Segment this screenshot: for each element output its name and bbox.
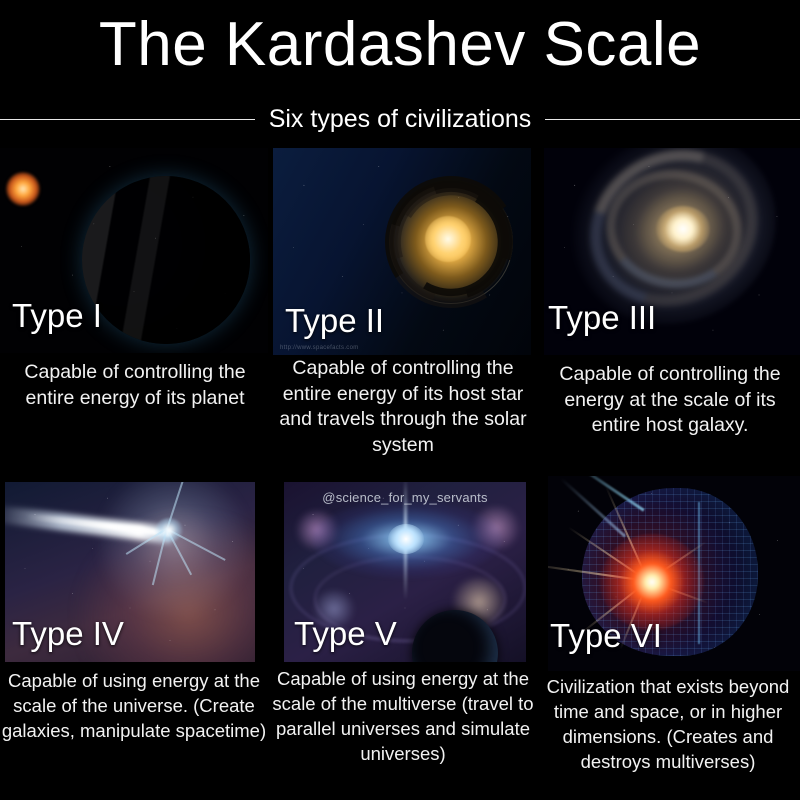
civilization-grid: Type I Capable of controlling the entire…: [0, 148, 800, 800]
rule-left: [0, 119, 255, 120]
page-subtitle: Six types of civilizations: [255, 105, 546, 133]
type-label-3: Type III: [548, 300, 656, 336]
card-description-2: Capable of controlling the entire energy…: [272, 356, 534, 458]
type-label-4: Type IV: [12, 616, 124, 652]
subtitle-row: Six types of civilizations: [0, 102, 800, 136]
account-watermark: @science_for_my_servants: [284, 490, 526, 505]
page-title: The Kardashev Scale: [0, 6, 800, 84]
type-label-5: Type V: [294, 616, 397, 652]
card-description-3: Capable of controlling the energy at the…: [542, 362, 798, 439]
card-description-4: Capable of using energy at the scale of …: [0, 668, 268, 743]
card-description-1: Capable of controlling the entire energy…: [8, 360, 262, 411]
galaxy-core-icon: [656, 206, 710, 252]
blue-planet-icon: [82, 176, 250, 344]
orange-star-icon: [6, 172, 40, 206]
card-description-5: Capable of using energy at the scale of …: [272, 666, 534, 766]
card-type-6: Type VI Civilization that exists beyond …: [536, 476, 800, 800]
card-type-3: Type III Capable of controlling the ener…: [536, 148, 800, 473]
card-type-4: Type IV Capable of using energy at the s…: [0, 476, 268, 800]
card-type-1: Type I Capable of controlling the entire…: [0, 148, 268, 473]
type-label-2: Type II: [285, 303, 384, 339]
header: The Kardashev Scale Six types of civiliz…: [0, 0, 800, 148]
type-label-6: Type VI: [550, 618, 662, 654]
energy-burst-icon: [600, 534, 704, 630]
source-watermark: http://www.spacefacts.com: [280, 345, 359, 351]
energy-node-icon: [155, 518, 183, 542]
type-label-1: Type I: [12, 298, 102, 334]
galaxy-core-icon: [388, 524, 424, 554]
rule-right: [545, 119, 800, 120]
card-type-2: http://www.spacefacts.com Type II Capabl…: [268, 148, 536, 473]
card-description-6: Civilization that exists beyond time and…: [538, 674, 798, 774]
card-type-5: @science_for_my_servants Type V Capable …: [268, 476, 536, 800]
